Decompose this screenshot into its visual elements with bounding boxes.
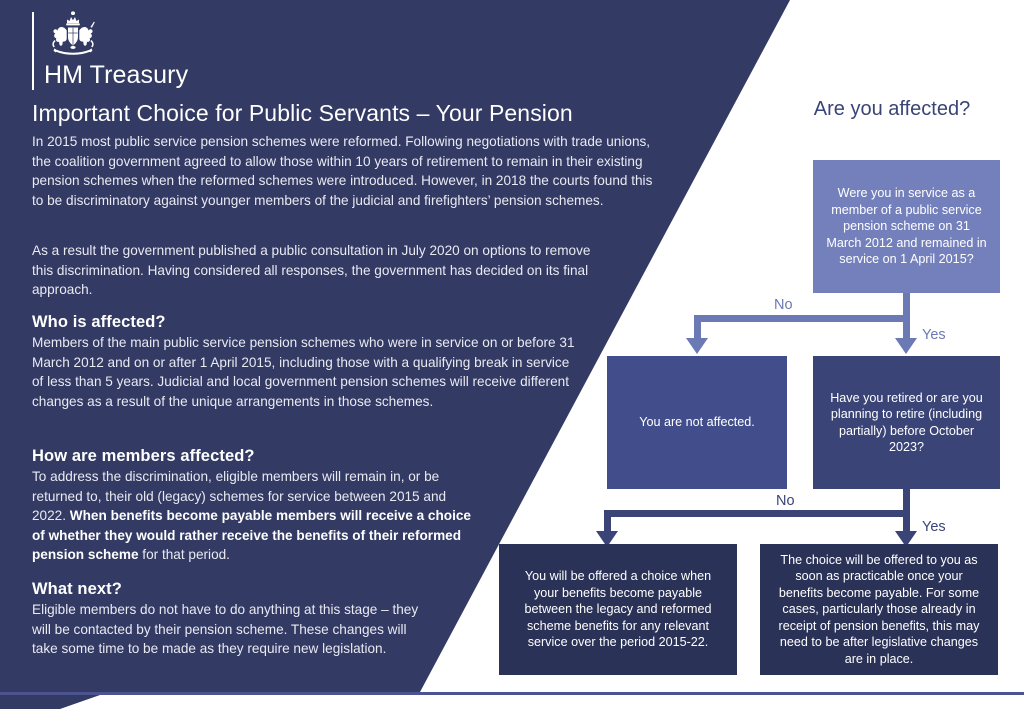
flow-node-not-affected: You are not affected. — [607, 356, 787, 489]
connector-branch-level2 — [604, 510, 910, 517]
flow-node-question-2: Have you retired or are you planning to … — [813, 356, 1000, 489]
connector-drop-no-level1 — [694, 315, 701, 340]
infographic-page: HM Treasury Important Choice for Public … — [0, 0, 1024, 709]
connector-drop-yes-level2 — [903, 510, 910, 533]
flow-node-outcome-choice-later: You will be offered a choice when your b… — [499, 544, 737, 675]
flowchart-title: Are you affected? — [760, 98, 1024, 121]
connector-branch-level1 — [694, 315, 910, 322]
flow-node-question-1: Were you in service as a member of a pub… — [813, 160, 1000, 293]
branch-label-no-level1: No — [774, 297, 793, 313]
branch-label-yes-level2: Yes — [922, 519, 946, 535]
connector-drop-no-level2 — [604, 510, 611, 533]
branch-label-yes-level1: Yes — [922, 327, 946, 343]
arrow-yes-level1 — [895, 338, 917, 354]
flow-node-outcome-choice-soon: The choice will be offered to you as soo… — [760, 544, 998, 675]
branch-label-no-level2: No — [776, 493, 795, 509]
flowchart: Are you affected? Were you in service as… — [0, 0, 1024, 709]
arrow-no-level1 — [686, 338, 708, 354]
connector-drop-yes-level1 — [903, 315, 910, 340]
